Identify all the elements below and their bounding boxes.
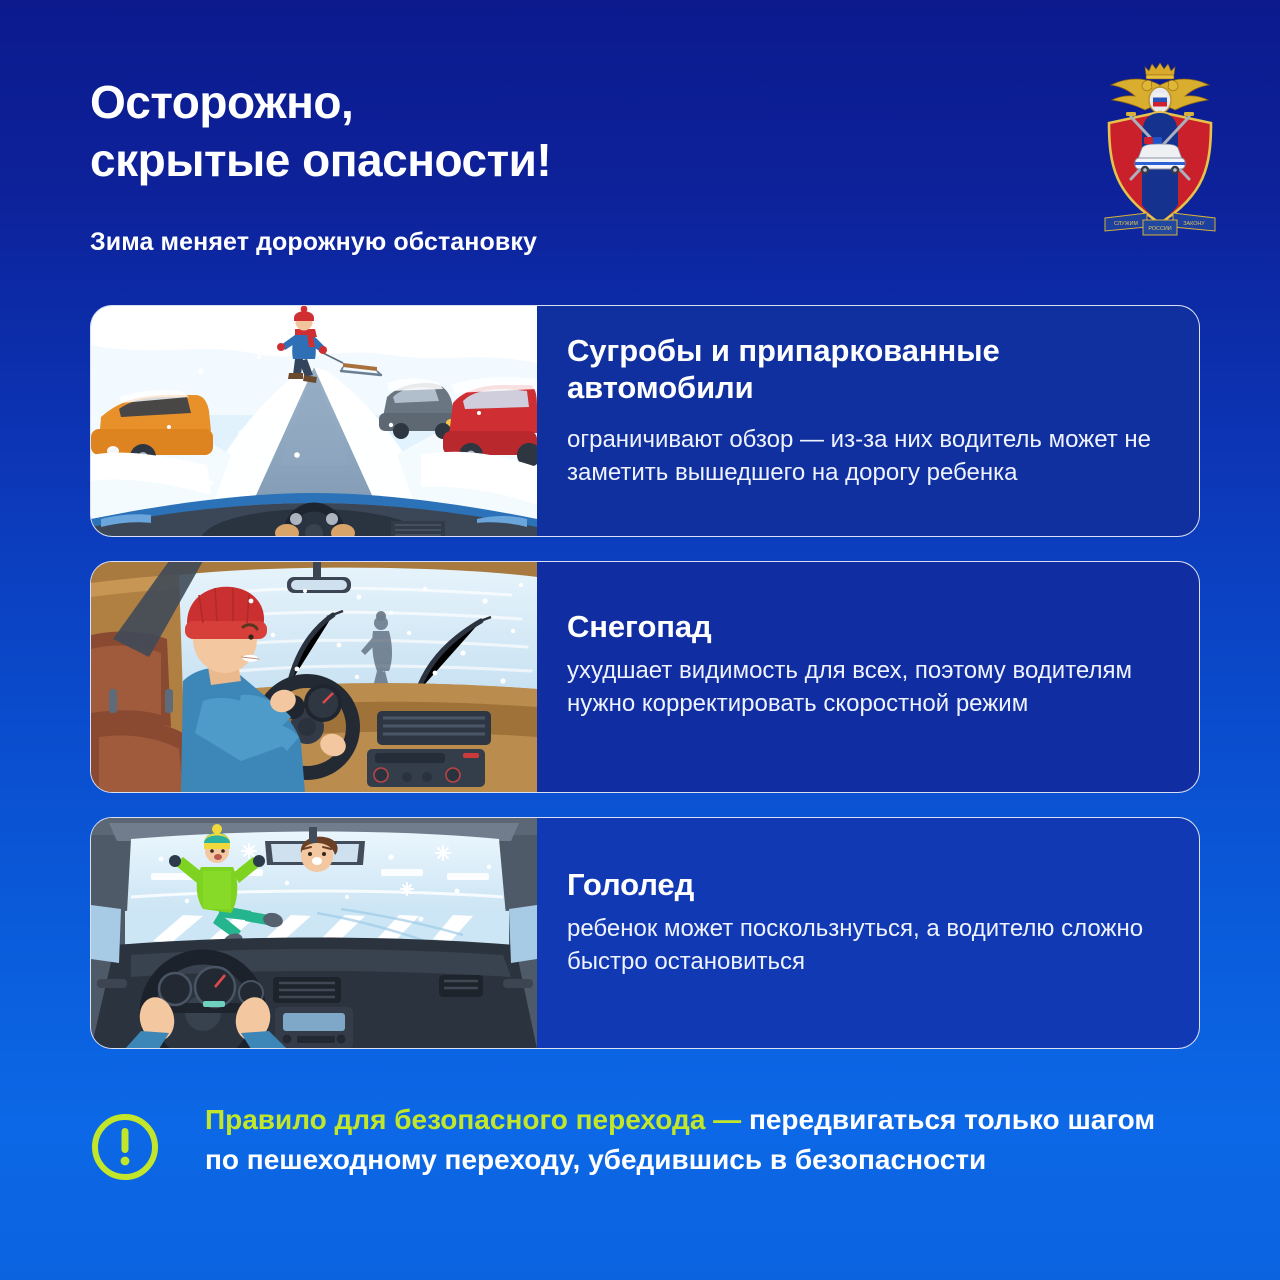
card-text-panel: Сугробы и припаркованные автомобили огра… <box>537 306 1199 536</box>
svg-text:СЛУЖИМ: СЛУЖИМ <box>1114 221 1139 227</box>
page-title: Осторожно, скрытые опасности! <box>90 74 1090 190</box>
safety-rule-text: Правило для безопасного перехода — перед… <box>205 1100 1190 1180</box>
hazard-card: Снегопад ухудшает видимость для всех, по… <box>90 561 1200 793</box>
card-description: ограничивают обзор — из-за них водитель … <box>567 424 1165 489</box>
card-description: ухудшает видимость для всех, поэтому вод… <box>567 655 1165 720</box>
card-heading: Сугробы и припаркованные автомобили <box>567 332 1165 406</box>
svg-text:РОССИИ: РОССИИ <box>1148 226 1171 232</box>
card-text-panel: Снегопад ухудшает видимость для всех, по… <box>537 562 1199 792</box>
header: Осторожно, скрытые опасности! Зима меняе… <box>90 74 1090 257</box>
crown-icon <box>1145 63 1175 79</box>
page-subtitle: Зима меняет дорожную обстановку <box>90 228 1090 257</box>
svg-text:ЗАКОНУ: ЗАКОНУ <box>1183 221 1205 227</box>
illustration-snowbanks-parked-cars <box>91 306 537 536</box>
hazard-cards-list: Сугробы и припаркованные автомобили огра… <box>90 305 1200 1073</box>
mvd-gibdd-emblem: СЛУЖИМ РОССИИ ЗАКОНУ <box>1085 55 1235 240</box>
hazard-card: Гололед ребенок может поскользнуться, а … <box>90 817 1200 1049</box>
center-console <box>367 749 485 787</box>
safety-rule-accent: Правило для безопасного перехода — <box>205 1104 741 1135</box>
card-heading: Гололед <box>567 866 1165 903</box>
exclamation-circle-icon <box>90 1112 160 1182</box>
card-text-panel: Гололед ребенок может поскользнуться, а … <box>537 818 1199 1048</box>
card-heading: Снегопад <box>567 608 1165 645</box>
hazard-card: Сугробы и припаркованные автомобили огра… <box>90 305 1200 537</box>
illustration-icy-crosswalk <box>91 818 537 1048</box>
dashboard-vents <box>377 711 491 745</box>
card-description: ребенок может поскользнуться, а водителю… <box>567 913 1165 978</box>
safety-rule-footer: Правило для безопасного перехода — перед… <box>90 1100 1190 1182</box>
shield <box>1109 112 1211 223</box>
center-console <box>275 1007 353 1048</box>
illustration-snowfall-driver <box>91 562 537 792</box>
